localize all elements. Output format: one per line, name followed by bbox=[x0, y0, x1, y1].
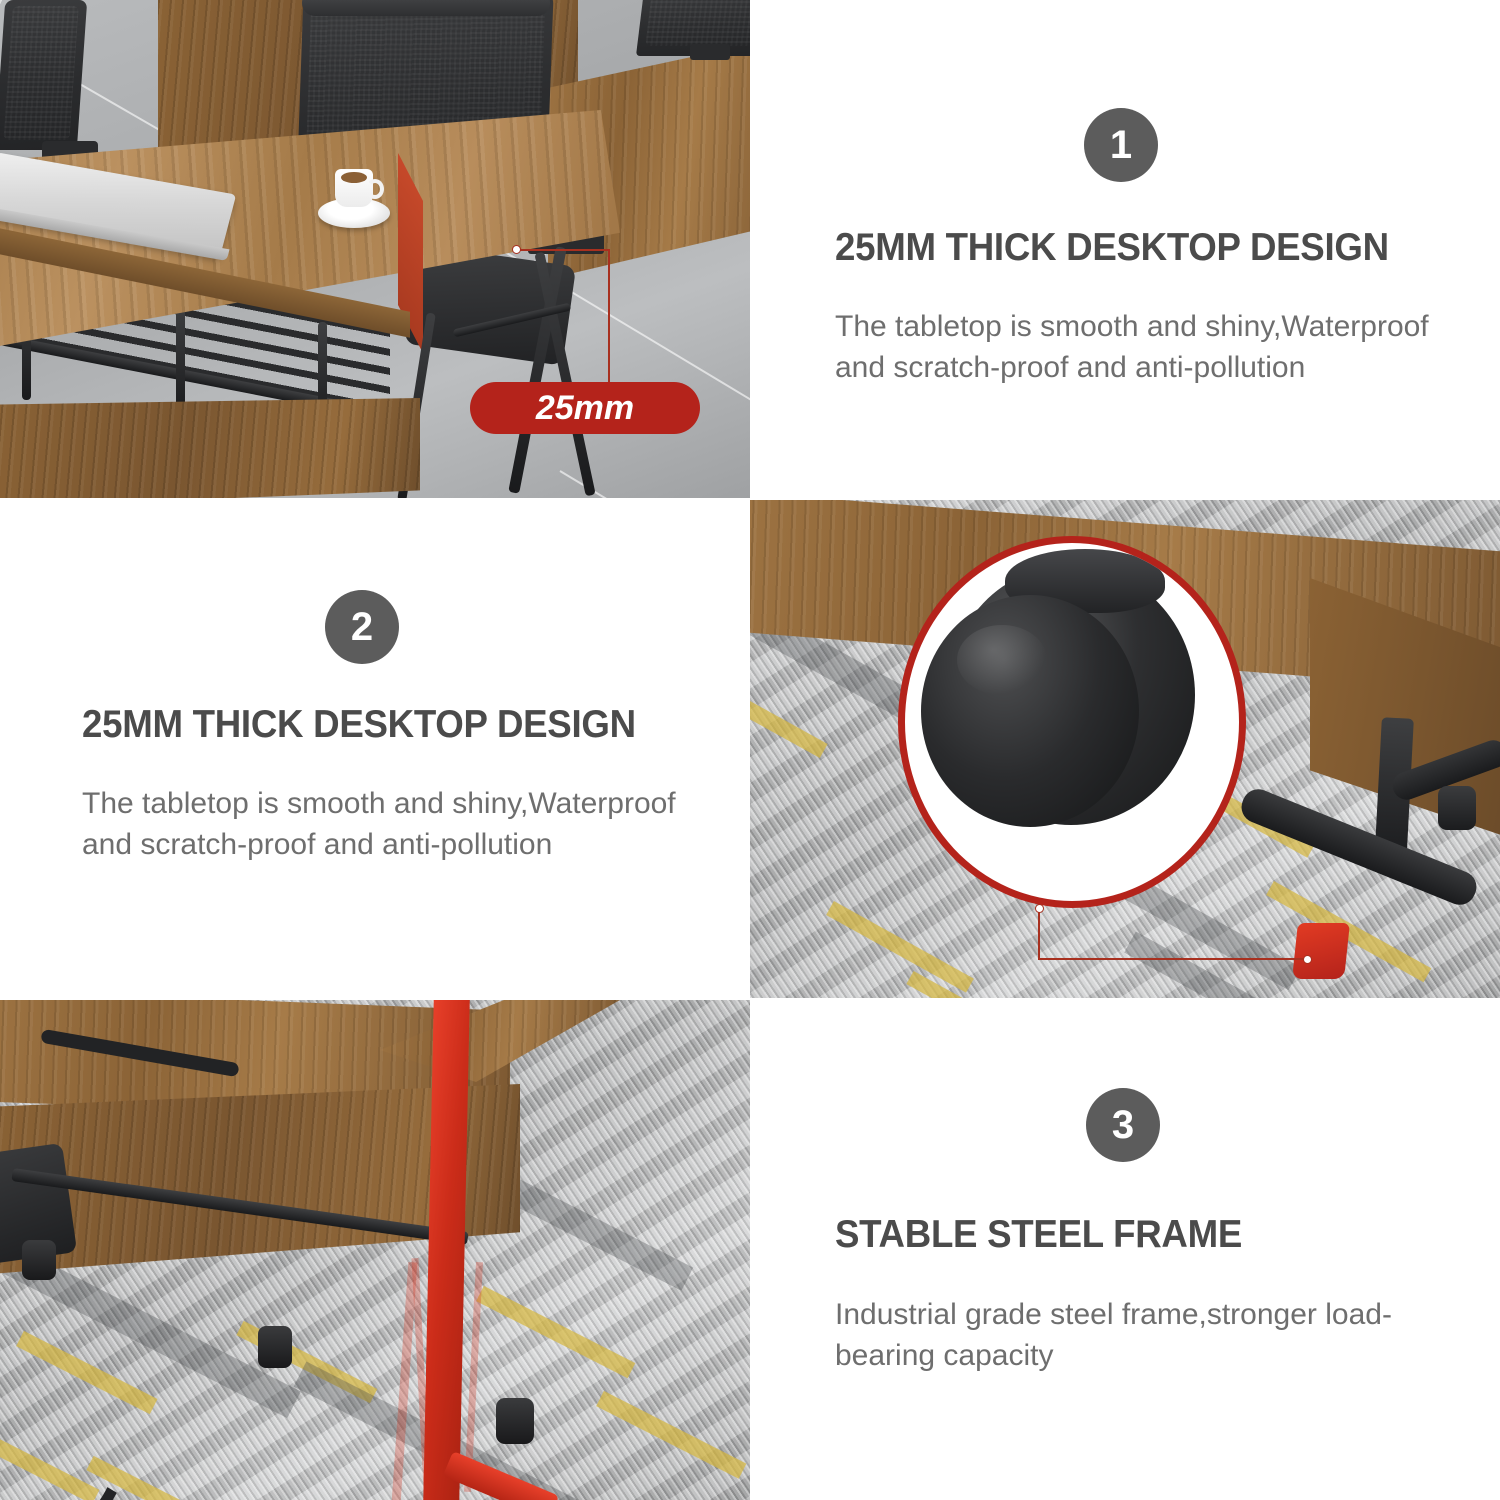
feature-number-badge-3: 3 bbox=[1086, 1088, 1160, 1162]
feature-3: 3 STABLE STEEL FRAME Industrial grade st… bbox=[0, 0, 1500, 1500]
feature-title-3: STABLE STEEL FRAME bbox=[835, 1213, 1242, 1257]
feature-body-3: Industrial grade steel frame,stronger lo… bbox=[835, 1294, 1435, 1376]
infographic-sheet: 25mm 1 25MM THICK DESKTOP DESIGN The tab… bbox=[0, 0, 1500, 1500]
